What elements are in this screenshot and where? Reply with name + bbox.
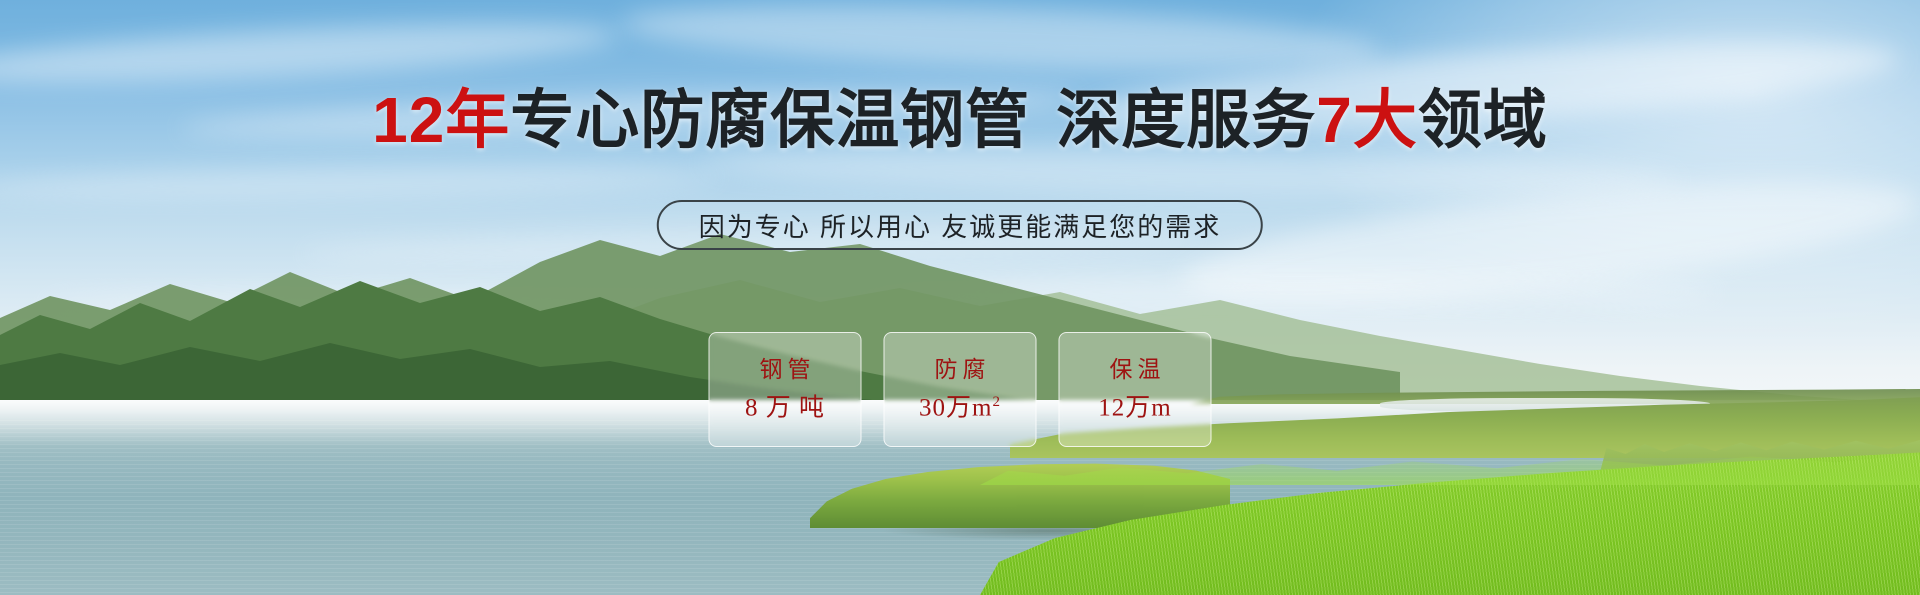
headline-years: 12年 [372,84,510,156]
headline-fields: 领域 [1418,84,1548,156]
stat-card-value: 12万m [1098,395,1171,420]
headline-main: 专心防腐保温钢管 [510,84,1030,156]
subtitle-pill: 因为专心 所以用心 友诚更能满足您的需求 [657,200,1263,250]
subtitle-text: 因为专心 所以用心 友诚更能满足您的需求 [699,207,1221,244]
stat-card-title: 防腐 [930,358,991,381]
stat-card-steel-pipe[interactable]: 钢管 8 万 吨 [709,332,862,447]
headline-service: 深度服务 [1056,84,1316,156]
stat-card-group: 钢管 8 万 吨 防腐 30万m2 保温 12万m [709,332,1212,447]
stat-card-title: 保温 [1105,358,1166,381]
headline-seven: 7大 [1316,84,1418,156]
stat-card-unit-sup: 2 [992,394,1001,410]
stat-card-title: 钢管 [755,358,816,381]
stat-card-value: 30万m2 [919,395,1001,420]
stat-card-value: 8 万 吨 [745,395,825,420]
page-title: 12年专心防腐保温钢管深度服务7大领域 [0,88,1920,152]
stat-card-insulation[interactable]: 保温 12万m [1059,332,1212,447]
hero-banner: 12年专心防腐保温钢管深度服务7大领域 因为专心 所以用心 友诚更能满足您的需求… [0,0,1920,595]
stat-card-anticorrosion[interactable]: 防腐 30万m2 [884,332,1037,447]
